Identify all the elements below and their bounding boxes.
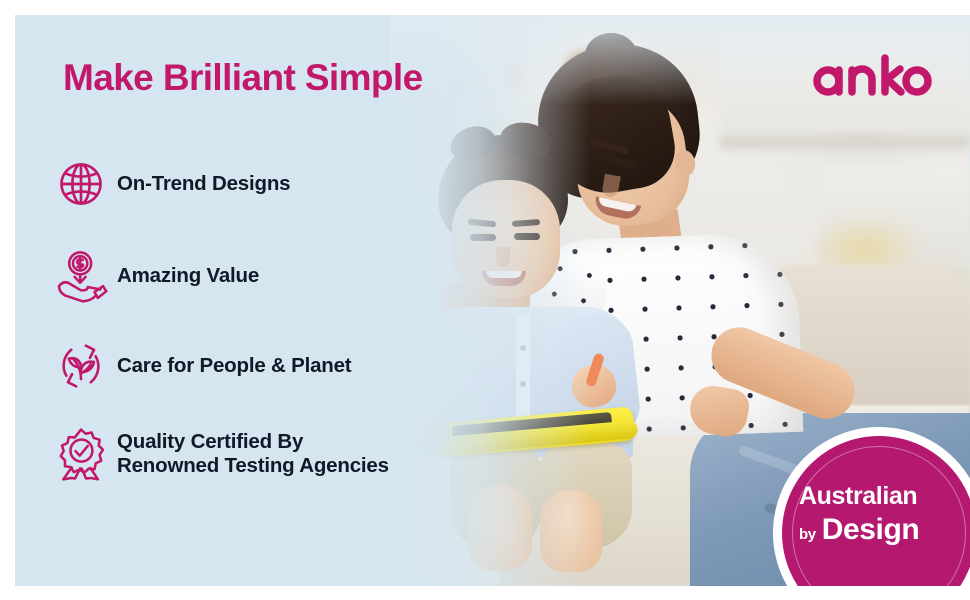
headline: Make Brilliant Simple (63, 57, 423, 99)
recycle-leaf-icon (45, 332, 117, 400)
feature-item-amazing-value: Amazing Value (45, 242, 465, 310)
feature-label: On-Trend Designs (117, 172, 290, 196)
feature-item-on-trend-designs: On-Trend Designs (45, 150, 465, 218)
badge-line-by-design: by Design (799, 513, 970, 547)
money-in-hand-icon (45, 242, 117, 310)
promotional-banner: Make Brilliant Simple (0, 0, 970, 600)
badge-line-australian: Australian (799, 482, 970, 511)
feature-label: Care for People & Planet (117, 354, 351, 378)
anko-logo (812, 53, 932, 97)
banner-panel: Make Brilliant Simple (15, 15, 970, 586)
australian-by-design-badge: Australian by Design (773, 427, 970, 586)
feature-item-quality-certified: Quality Certified By Renowned Testing Ag… (45, 420, 465, 488)
feature-list: On-Trend Designs (45, 150, 465, 488)
badge-word-design: Design (822, 513, 920, 547)
feature-label: Quality Certified By Renowned Testing Ag… (117, 430, 389, 478)
globe-icon (45, 150, 117, 218)
feature-item-care-for-people-and-planet: Care for People & Planet (45, 332, 465, 400)
feature-label: Amazing Value (117, 264, 259, 288)
badge-word-by: by (799, 526, 816, 543)
badge-text: Australian by Design (773, 427, 970, 586)
quality-rosette-icon (45, 420, 117, 488)
